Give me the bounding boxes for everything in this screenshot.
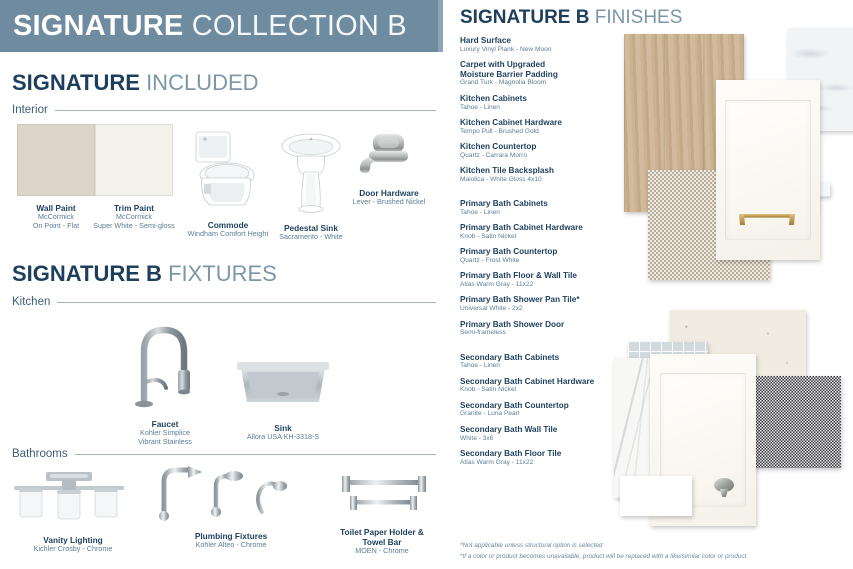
toilet-paper-holder-caption: Toilet Paper Holder & Towel Bar MOEN - C… bbox=[316, 527, 448, 556]
cabinet-knob-satin-nickel bbox=[712, 476, 738, 500]
finish-item: Primary Bath Cabinet Hardware Knob - Sat… bbox=[460, 223, 636, 241]
sink-line2: Allora USA KH-3318-S bbox=[228, 433, 338, 442]
commode-image bbox=[188, 128, 268, 210]
footnotes: *Not applicable unless structural option… bbox=[460, 541, 853, 563]
finish-title: Kitchen Countertop bbox=[460, 142, 636, 152]
subsection-kitchen-rule bbox=[57, 302, 436, 303]
finish-item: Kitchen Countertop Quartz - Carrara Morr… bbox=[460, 142, 636, 160]
hero-title-light: COLLECTION B bbox=[192, 10, 407, 42]
finish-item: Hard Surface Luxury Vinyl Plank - New Mo… bbox=[460, 36, 636, 54]
product-sink: Sink Allora USA KH-3318-S bbox=[235, 358, 338, 442]
subsection-bathrooms: Bathrooms bbox=[0, 448, 448, 460]
finish-sub: Atlas Warm Gray - 11x22 bbox=[460, 281, 636, 289]
finish-item: Kitchen Cabinet Hardware Tempo Pull - Br… bbox=[460, 118, 636, 136]
door-hardware-image bbox=[357, 132, 421, 180]
subsection-kitchen-label: Kitchen bbox=[12, 296, 50, 308]
product-door-hardware: Door Hardware Lever - Brushed Nickel bbox=[357, 132, 444, 207]
fixtures-bold: SIGNATURE B bbox=[12, 261, 162, 286]
product-pedestal-sink: Pedestal Sink Sacramento - White bbox=[278, 128, 366, 242]
finishes-heading-bold: SIGNATURE B bbox=[460, 7, 589, 28]
subsection-interior: Interior bbox=[0, 104, 448, 116]
plumbing-fixtures-image bbox=[150, 462, 310, 524]
hero-banner: SIGNATURE COLLECTION B bbox=[0, 0, 443, 52]
sink-image bbox=[235, 358, 331, 412]
finish-sub: Tahoe - Linen bbox=[460, 209, 636, 217]
product-plumbing-fixtures: Plumbing Fixtures Kohler Alteo - Chrome bbox=[150, 462, 310, 550]
right-column: SIGNATURE B FINISHES Hard Surface Luxury… bbox=[460, 0, 853, 569]
toilet-paper-holder-name: Toilet Paper Holder & bbox=[316, 527, 448, 537]
included-bold: SIGNATURE bbox=[12, 70, 140, 95]
plumbing-fixtures-line2: Kohler Alteo - Chrome bbox=[156, 541, 306, 550]
finish-title: Primary Bath Floor & Wall Tile bbox=[460, 271, 636, 281]
swatch-kitchen-cabinet-door bbox=[716, 80, 820, 260]
vanity-lighting-line2: Kichler Crosby - Chrome bbox=[6, 545, 140, 554]
section-heading-fixtures: SIGNATURE B FIXTURES bbox=[0, 263, 277, 285]
finish-sub: Grand Turk - Magnolia Bloom bbox=[460, 79, 636, 87]
finish-item: Kitchen Tile Backsplash Maiolica - White… bbox=[460, 166, 636, 184]
finishes-heading: SIGNATURE B FINISHES bbox=[460, 0, 853, 27]
finish-sub: Quartz - Carrara Morro bbox=[460, 152, 636, 160]
subsection-interior-rule bbox=[55, 110, 436, 111]
subsection-bathrooms-label: Bathrooms bbox=[12, 448, 68, 460]
towel-bar-image bbox=[330, 470, 436, 518]
door-hardware-caption: Door Hardware Lever - Brushed Nickel bbox=[334, 188, 444, 207]
group-gap bbox=[460, 190, 636, 199]
finish-sub: Knob - Satin Nickel bbox=[460, 233, 636, 241]
finish-title: Kitchen Cabinet Hardware bbox=[460, 118, 636, 128]
finish-title-2: Moisture Barrier Padding bbox=[460, 70, 636, 80]
swatch-granite-luna-pearl bbox=[745, 376, 841, 468]
finish-sub: Quartz - Frost White bbox=[460, 257, 636, 265]
wall-paint-swatch bbox=[17, 124, 95, 196]
footnote-2: *If a color or product becomes unavailab… bbox=[460, 552, 853, 563]
finish-sub: Luxury Vinyl Plank - New Moon bbox=[460, 46, 636, 54]
subsection-bathrooms-rule bbox=[75, 454, 436, 455]
trim-paint-swatch bbox=[95, 124, 173, 196]
product-faucet: Faucet Kohler Simplice Vibrant Stainless bbox=[122, 320, 220, 447]
finish-sub: Tahoe - Linen bbox=[460, 104, 636, 112]
finishes-heading-light: FINISHES bbox=[595, 7, 683, 28]
included-light: INCLUDED bbox=[146, 70, 258, 95]
hero-edge-strip bbox=[438, 0, 443, 52]
product-toilet-paper-holder: Toilet Paper Holder & Towel Bar MOEN - C… bbox=[330, 470, 448, 556]
finish-item: Kitchen Cabinets Tahoe - Linen bbox=[460, 94, 636, 112]
cabinet-pull-brushed-gold bbox=[736, 210, 798, 230]
finish-item: Primary Bath Cabinets Tahoe - Linen bbox=[460, 199, 636, 217]
finish-collage-top bbox=[620, 28, 853, 290]
hero-title-bold: SIGNATURE bbox=[13, 10, 183, 42]
left-column: SIGNATURE COLLECTION B SIGNATURE INCLUDE… bbox=[0, 0, 448, 569]
toilet-paper-holder-line2: MOEN - Chrome bbox=[316, 547, 448, 556]
fixtures-light: FIXTURES bbox=[168, 261, 277, 286]
pedestal-sink-caption: Pedestal Sink Sacramento - White bbox=[256, 223, 366, 242]
sink-caption: Sink Allora USA KH-3318-S bbox=[228, 423, 338, 442]
section-heading-included: SIGNATURE INCLUDED bbox=[0, 72, 259, 94]
vanity-lighting-image bbox=[6, 468, 131, 522]
finish-title: Primary Bath Cabinet Hardware bbox=[460, 223, 636, 233]
faucet-caption: Faucet Kohler Simplice Vibrant Stainless bbox=[110, 419, 220, 447]
finish-title: Primary Bath Cabinets bbox=[460, 199, 636, 209]
finish-item: Primary Bath Floor & Wall Tile Atlas War… bbox=[460, 271, 636, 289]
footnote-1: *Not applicable unless structural option… bbox=[460, 541, 853, 552]
swatch-secondary-wall-tile-white bbox=[620, 476, 692, 516]
plumbing-fixtures-caption: Plumbing Fixtures Kohler Alteo - Chrome bbox=[156, 531, 306, 550]
collection-board: SIGNATURE COLLECTION B SIGNATURE INCLUDE… bbox=[0, 0, 853, 569]
finish-collage-bottom bbox=[600, 306, 853, 538]
faucet-image bbox=[122, 320, 208, 410]
finish-title: Kitchen Tile Backsplash bbox=[460, 166, 636, 176]
finish-title: Hard Surface bbox=[460, 36, 636, 46]
faucet-line3: Vibrant Stainless bbox=[110, 438, 220, 447]
product-vanity-lighting: Vanity Lighting Kichler Crosby - Chrome bbox=[6, 468, 140, 554]
finish-title: Primary Bath Countertop bbox=[460, 247, 636, 257]
finish-item: Carpet with Upgraded Moisture Barrier Pa… bbox=[460, 60, 636, 87]
finish-item: Primary Bath Countertop Quartz - Frost W… bbox=[460, 247, 636, 265]
vanity-lighting-caption: Vanity Lighting Kichler Crosby - Chrome bbox=[6, 535, 140, 554]
hero-title: SIGNATURE COLLECTION B bbox=[0, 12, 407, 41]
product-trim-paint: Trim Paint McCormick Super White - Semi-… bbox=[95, 124, 194, 231]
subsection-interior-label: Interior bbox=[12, 104, 48, 116]
door-hardware-line2: Lever - Brushed Nickel bbox=[334, 198, 444, 207]
finish-sub: Maiolica - White Gloss 4x10 bbox=[460, 176, 636, 184]
pedestal-sink-line2: Sacramento - White bbox=[256, 233, 366, 242]
finish-sub: Tempo Pull - Brushed Gold bbox=[460, 128, 636, 136]
subsection-kitchen: Kitchen bbox=[0, 296, 448, 308]
finish-title: Kitchen Cabinets bbox=[460, 94, 636, 104]
finish-title: Carpet with Upgraded bbox=[460, 60, 636, 70]
finish-title: Primary Bath Shower Pan Tile* bbox=[460, 295, 636, 305]
